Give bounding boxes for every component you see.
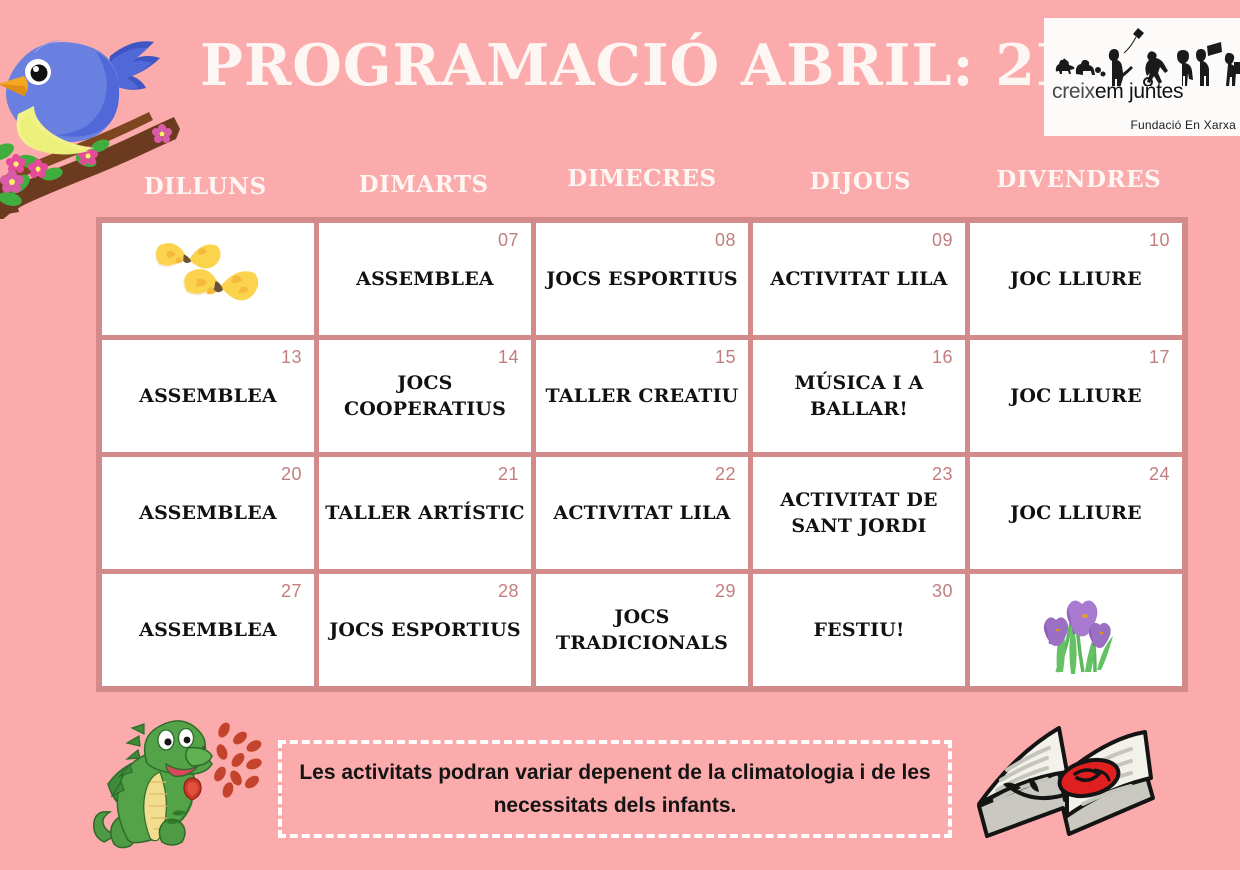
calendar-cell[interactable]: 07 ASSEMBLEA — [319, 223, 531, 335]
cell-date: 30 — [932, 581, 953, 602]
calendar-cell[interactable]: 23 ACTIVITAT DE SANT JORDI — [753, 457, 965, 569]
calendar-cell[interactable] — [102, 223, 314, 335]
day-header-dilluns: DILLUNS — [96, 165, 314, 209]
cell-activity: JOC LLIURE — [976, 266, 1176, 292]
crocus-flowers-icon — [970, 574, 1182, 686]
calendar-cell[interactable]: 24 JOC LLIURE — [970, 457, 1182, 569]
cell-date: 16 — [932, 347, 953, 368]
cell-date: 15 — [715, 347, 736, 368]
page-title: PROGRAMACIÓ ABRIL: 2N — [200, 32, 1030, 99]
cell-activity: JOC LLIURE — [976, 383, 1176, 409]
cell-date: 22 — [715, 464, 736, 485]
calendar-cell[interactable]: 15 TALLER CREATIU — [536, 340, 748, 452]
cell-activity: ASSEMBLEA — [108, 500, 308, 526]
cell-date: 08 — [715, 230, 736, 251]
cell-activity: TALLER ARTÍSTIC — [325, 500, 525, 526]
day-header-dijous: DIJOUS — [751, 165, 969, 209]
cell-activity: JOCS ESPORTIUS — [325, 617, 525, 643]
day-header-dimecres: DIMECRES — [533, 165, 751, 209]
cell-date: 29 — [715, 581, 736, 602]
calendar-cell[interactable]: 14 JOCS COOPERATIUS — [319, 340, 531, 452]
logo-word-bold: em juntes — [1095, 80, 1183, 103]
cell-activity: ACTIVITAT LILA — [759, 266, 959, 292]
people-silhouettes-logo-icon — [1050, 24, 1240, 86]
calendar-cell[interactable]: 10 JOC LLIURE — [970, 223, 1182, 335]
calendar-cell[interactable]: 21 TALLER ARTÍSTIC — [319, 457, 531, 569]
cell-activity: ACTIVITAT LILA — [542, 500, 742, 526]
cell-date: 28 — [498, 581, 519, 602]
organization-logo: creixem juntes Fundació En Xarxa — [1044, 18, 1240, 136]
open-book-with-rose-icon — [965, 718, 1160, 866]
logo-subtitle: Fundació En Xarxa — [1131, 118, 1236, 132]
calendar-cell[interactable]: 28 JOCS ESPORTIUS — [319, 574, 531, 686]
calendar-cell[interactable] — [970, 574, 1182, 686]
logo-word-thin: creix — [1052, 80, 1095, 103]
cell-date: 14 — [498, 347, 519, 368]
cell-activity: ACTIVITAT DE SANT JORDI — [759, 487, 959, 539]
calendar-cell[interactable]: 29 JOCS TRADICIONALS — [536, 574, 748, 686]
cell-activity: JOCS TRADICIONALS — [542, 604, 742, 656]
calendar-cell[interactable]: 17 JOC LLIURE — [970, 340, 1182, 452]
calendar-cell[interactable]: 08 JOCS ESPORTIUS — [536, 223, 748, 335]
cell-date: 21 — [498, 464, 519, 485]
disclaimer-note-text: Les activitats podran variar depenent de… — [282, 756, 948, 822]
cell-date: 10 — [1149, 230, 1170, 251]
cell-activity: MÚSICA I A BALLAR! — [759, 370, 959, 422]
cell-activity: FESTIU! — [759, 617, 959, 643]
calendar-cell[interactable]: 16 MÚSICA I A BALLAR! — [753, 340, 965, 452]
calendar-cell[interactable]: 22 ACTIVITAT LILA — [536, 457, 748, 569]
cell-activity: ASSEMBLEA — [108, 617, 308, 643]
cell-activity: TALLER CREATIU — [542, 383, 742, 409]
calendar-grid: 07 ASSEMBLEA 08 JOCS ESPORTIUS 09 ACTIVI… — [96, 217, 1188, 692]
cell-date: 24 — [1149, 464, 1170, 485]
butterflies-icon — [102, 223, 314, 335]
cell-date: 27 — [281, 581, 302, 602]
dragon-with-rose-icon — [88, 712, 266, 867]
cell-date: 07 — [498, 230, 519, 251]
calendar-cell[interactable]: 27 ASSEMBLEA — [102, 574, 314, 686]
cell-date: 09 — [932, 230, 953, 251]
page-header: PROGRAMACIÓ ABRIL: 2N creixem ju — [0, 0, 1240, 150]
cell-date: 17 — [1149, 347, 1170, 368]
cell-activity: JOCS ESPORTIUS — [542, 266, 742, 292]
cell-date: 23 — [932, 464, 953, 485]
logo-wordmark: creixem juntes — [1052, 80, 1183, 104]
calendar-cell[interactable]: 13 ASSEMBLEA — [102, 340, 314, 452]
disclaimer-note: Les activitats podran variar depenent de… — [278, 740, 952, 838]
cell-activity: ASSEMBLEA — [108, 383, 308, 409]
calendar-cell[interactable]: 09 ACTIVITAT LILA — [753, 223, 965, 335]
cell-activity: JOC LLIURE — [976, 500, 1176, 526]
day-header-dimarts: DIMARTS — [314, 165, 532, 209]
day-header-row: DILLUNS DIMARTS DIMECRES DIJOUS DIVENDRE… — [96, 165, 1188, 209]
calendar-cell[interactable]: 20 ASSEMBLEA — [102, 457, 314, 569]
cell-activity: ASSEMBLEA — [325, 266, 525, 292]
cell-date: 20 — [281, 464, 302, 485]
day-header-divendres: DIVENDRES — [970, 165, 1188, 209]
cell-date: 13 — [281, 347, 302, 368]
calendar-cell[interactable]: 30 FESTIU! — [753, 574, 965, 686]
cell-activity: JOCS COOPERATIUS — [325, 370, 525, 422]
